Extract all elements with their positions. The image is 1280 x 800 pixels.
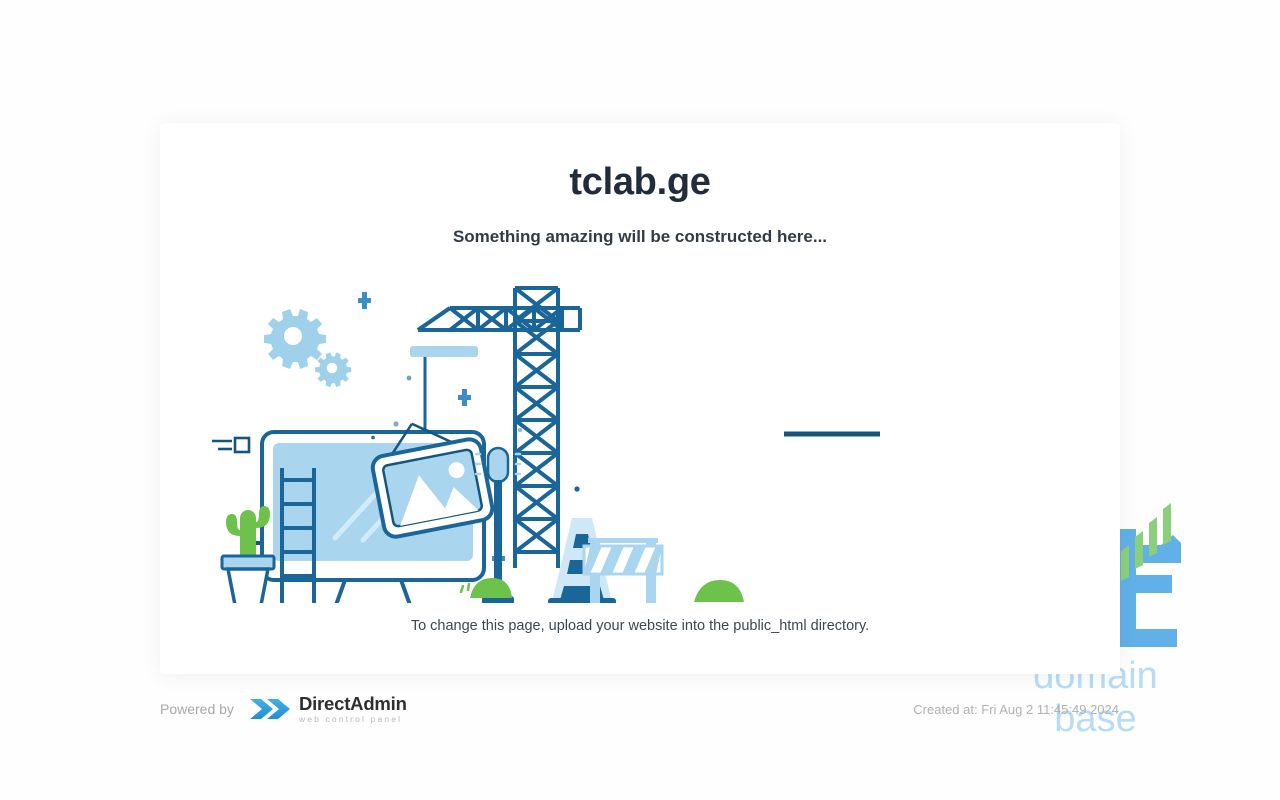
gears-icon — [264, 309, 351, 387]
directadmin-tagline: web control panel — [299, 715, 407, 724]
cactus-plant-icon — [222, 506, 274, 603]
page-title: tclab.ge — [160, 161, 1120, 204]
page-root: domain base tclab.ge Something amazing w… — [0, 0, 1280, 800]
created-at-text: Created at: Fri Aug 2 11:45:49 2024 — [913, 702, 1119, 717]
crane-trolley — [410, 346, 478, 357]
upload-instructions: To change this page, upload your website… — [160, 618, 1120, 634]
powered-by-label: Powered by — [160, 701, 234, 717]
directadmin-wordmark: DirectAdmin web control panel — [299, 695, 407, 724]
growth-bars-icon — [1121, 503, 1171, 581]
content-card: tclab.ge Something amazing will be const… — [160, 123, 1120, 674]
page-subtitle: Something amazing will be constructed he… — [160, 227, 1120, 247]
directadmin-name: DirectAdmin — [299, 695, 407, 714]
decor-rules-2 — [568, 433, 718, 434]
under-construction-illustration — [160, 268, 1120, 603]
decor-list-icon — [212, 438, 249, 452]
road-barrier-icon — [584, 538, 662, 603]
double-chevron-icon — [248, 694, 292, 724]
footer-powered-by: Powered by DirectAdmin web control panel — [160, 694, 407, 724]
directadmin-logo[interactable]: DirectAdmin web control panel — [248, 694, 407, 724]
